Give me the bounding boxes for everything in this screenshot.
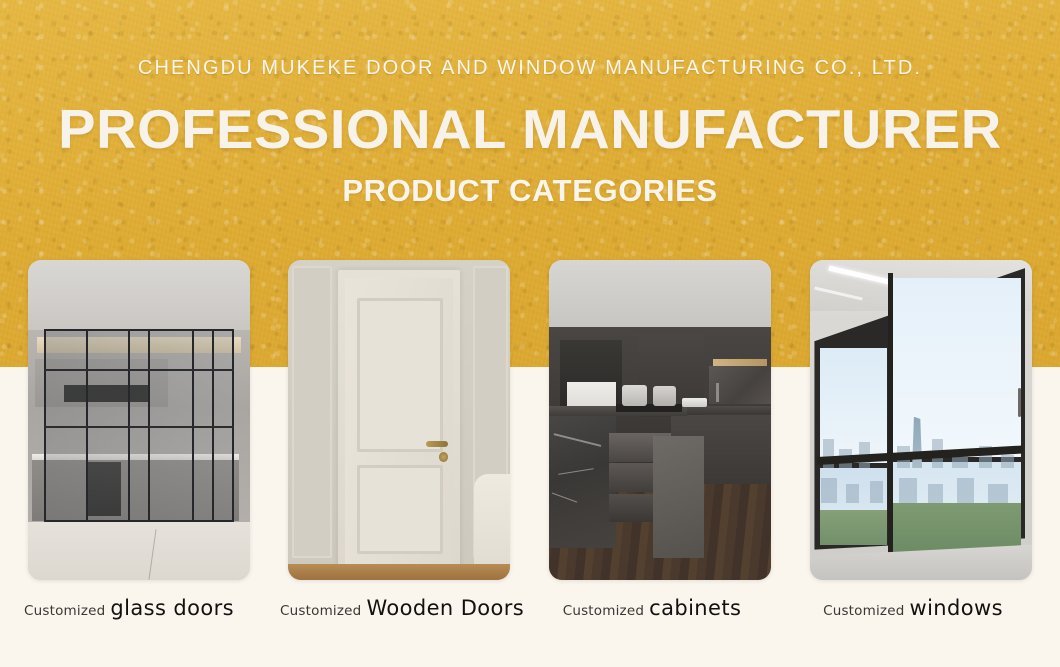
caption-cabinets: Customizedcabinets: [541, 596, 763, 620]
caption-windows: Customizedwindows: [802, 596, 1024, 620]
caption-label: cabinets: [649, 596, 741, 620]
caption-prefix: Customized: [24, 603, 105, 619]
product-card-cabinets[interactable]: [549, 260, 771, 580]
caption-prefix: Customized: [823, 603, 904, 619]
product-card-wooden-doors[interactable]: [288, 260, 510, 580]
cabinets-image: [549, 260, 771, 580]
caption-prefix: Customized: [563, 603, 644, 619]
glass-doors-image: [28, 260, 250, 580]
product-card-glass-doors[interactable]: [28, 260, 250, 580]
caption-label: windows: [910, 596, 1003, 620]
company-name: CHENGDU MUKEKE DOOR AND WINDOW MANUFACTU…: [0, 57, 1060, 80]
caption-prefix: Customized: [280, 603, 361, 619]
section-subtitle: PRODUCT CATEGORIES: [0, 173, 1060, 209]
product-card-windows[interactable]: [810, 260, 1032, 580]
caption-glass-doors: Customizedglass doors: [18, 596, 240, 620]
page-title: PROFESSIONAL MANUFACTURER: [0, 98, 1060, 160]
wooden-doors-image: [288, 260, 510, 580]
caption-wooden-doors: CustomizedWooden Doors: [280, 596, 502, 620]
caption-label: Wooden Doors: [366, 596, 524, 620]
product-categories-banner: CHENGDU MUKEKE DOOR AND WINDOW MANUFACTU…: [0, 0, 1060, 667]
caption-label: glass doors: [110, 596, 234, 620]
windows-image: [810, 260, 1032, 580]
